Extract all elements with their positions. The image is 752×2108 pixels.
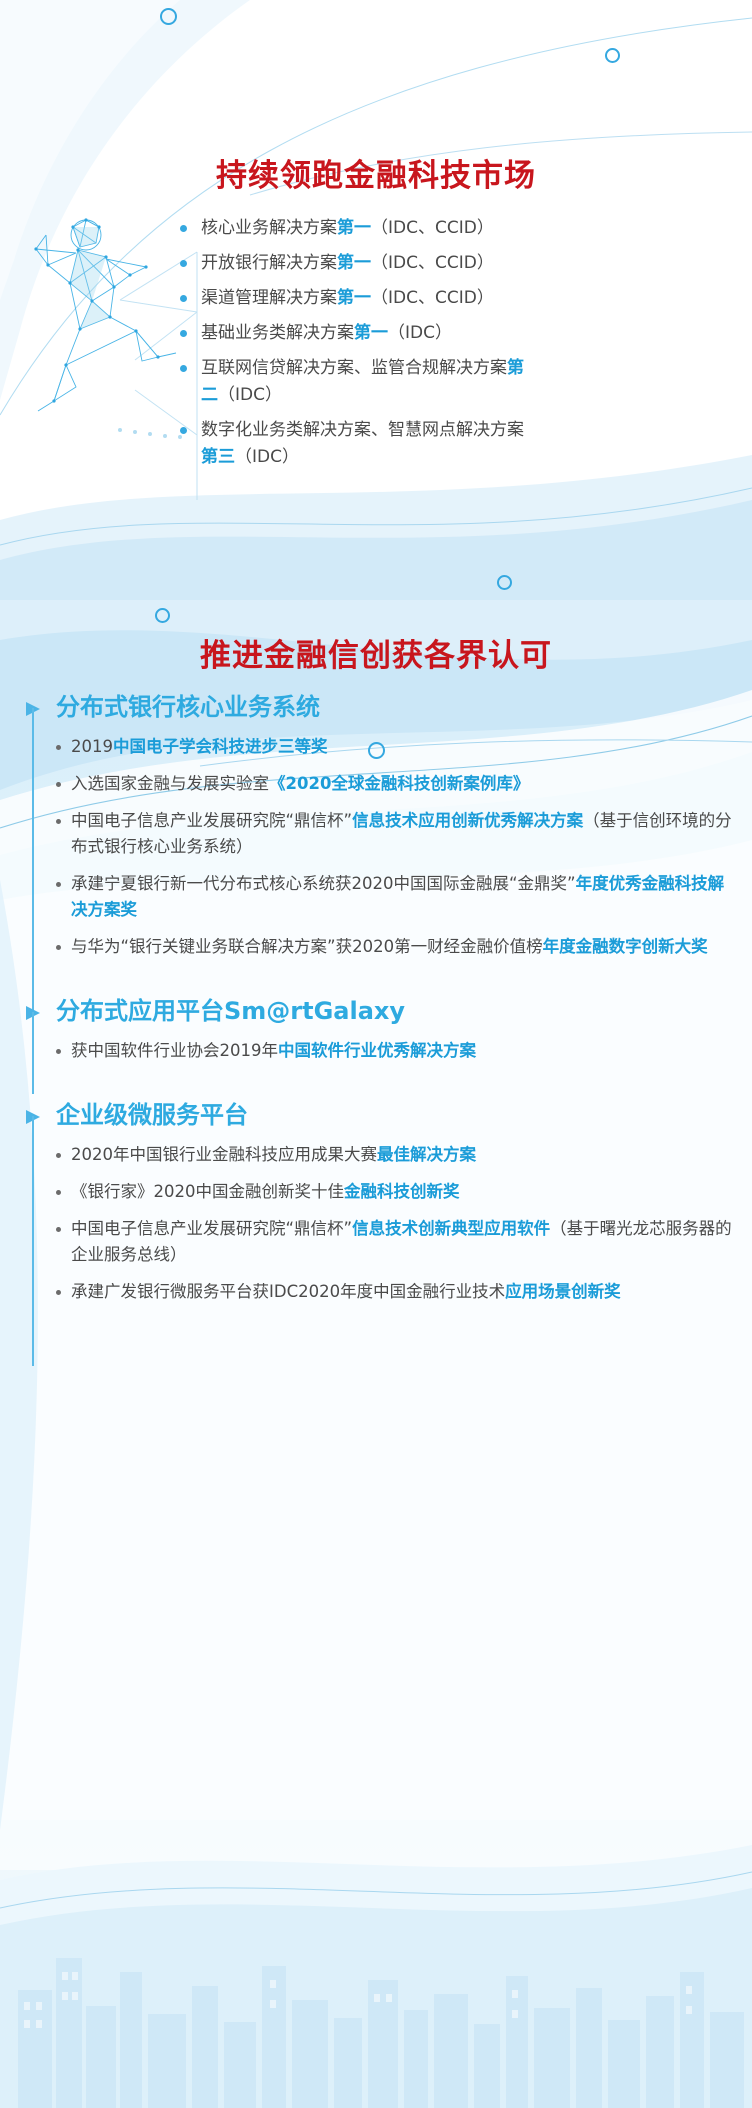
bullet-dot-icon [56,1190,61,1195]
list-item: 承建宁夏银行新一代分布式核心系统获2020中国国际金融展“金鼎奖”年度优秀金融科… [56,871,752,923]
bullet-dot-icon [180,295,187,302]
bullet-text: 数字化业务类解决方案、智慧网点解决方案第三（IDC） [201,417,535,471]
bullet-text: 承建广发银行微服务平台获IDC2020年度中国金融行业技术应用场景创新奖 [71,1279,621,1305]
bullet-text: 与华为“银行关键业务联合解决方案”获2020第一财经金融价值榜年度金融数字创新大… [71,934,708,960]
group-smartgalaxy-platform: 分布式应用平台Sm@rtGalaxy 获中国软件行业协会2019年中国软件行业优… [0,994,752,1064]
bullet-text: 核心业务解决方案第一（IDC、CCID） [201,215,494,242]
bullet-dot-icon [56,945,61,950]
list-item: 互联网信贷解决方案、监管合规解决方案第二（IDC） [180,355,725,409]
bullet-dot-icon [56,1049,61,1054]
group-connector-line [32,708,34,1028]
bullet-dot-icon [56,782,61,787]
group-enterprise-microservice-platform: 企业级微服务平台 2020年中国银行业金融科技应用成果大赛最佳解决方案 《银行家… [0,1098,752,1305]
list-item: 开放银行解决方案第一（IDC、CCID） [180,250,725,277]
group-bullets: 获中国软件行业协会2019年中国软件行业优秀解决方案 [56,1038,752,1064]
list-item: 中国电子信息产业发展研究院“鼎信杯”信息技术应用创新优秀解决方案（基于信创环境的… [56,808,752,860]
list-item: 2019中国电子学会科技进步三等奖 [56,734,752,760]
group-distributed-core-banking: 分布式银行核心业务系统 2019中国电子学会科技进步三等奖 入选国家金融与发展实… [0,690,752,960]
list-item: 渠道管理解决方案第一（IDC、CCID） [180,285,725,312]
group-heading: 分布式银行核心业务系统 [56,690,752,724]
bullet-text: 2020年中国银行业金融科技应用成果大赛最佳解决方案 [71,1142,476,1168]
bullet-dot-icon [180,365,187,372]
bullet-dot-icon [180,225,187,232]
list-item: 数字化业务类解决方案、智慧网点解决方案第三（IDC） [180,417,725,471]
bullet-text: 中国电子信息产业发展研究院“鼎信杯”信息技术应用创新优秀解决方案（基于信创环境的… [71,808,734,860]
section2-title: 推进金融信创获各界认可 [0,630,752,675]
list-item: 2020年中国银行业金融科技应用成果大赛最佳解决方案 [56,1142,752,1168]
list-item: 核心业务解决方案第一（IDC、CCID） [180,215,725,242]
section1-title: 持续领跑金融科技市场 [0,150,752,195]
section2-groups: 分布式银行核心业务系统 2019中国电子学会科技进步三等奖 入选国家金融与发展实… [0,690,752,1316]
group-connector-line [32,1116,34,1366]
list-item: 中国电子信息产业发展研究院“鼎信杯”信息技术创新典型应用软件（基于曙光龙芯服务器… [56,1216,752,1268]
section-leading-fintech-market: 持续领跑金融科技市场 [0,0,752,600]
bullet-dot-icon [56,1290,61,1295]
group-heading: 企业级微服务平台 [56,1098,752,1132]
section1-bullet-list: 核心业务解决方案第一（IDC、CCID） 开放银行解决方案第一（IDC、CCID… [180,215,725,479]
list-item: 与华为“银行关键业务联合解决方案”获2020第一财经金融价值榜年度金融数字创新大… [56,934,752,960]
bullet-dot-icon [180,260,187,267]
bullet-dot-icon [56,882,61,887]
bullet-text: 承建宁夏银行新一代分布式核心系统获2020中国国际金融展“金鼎奖”年度优秀金融科… [71,871,734,923]
infographic-page: 持续领跑金融科技市场 [0,0,752,2108]
bullet-text: 《银行家》2020中国金融创新奖十佳金融科技创新奖 [71,1179,460,1205]
bullet-text: 入选国家金融与发展实验室《2020全球金融科技创新案例库》 [71,771,529,797]
group-bullets: 2019中国电子学会科技进步三等奖 入选国家金融与发展实验室《2020全球金融科… [56,734,752,960]
bullet-text: 渠道管理解决方案第一（IDC、CCID） [201,285,494,312]
bullet-text: 互联网信贷解决方案、监管合规解决方案第二（IDC） [201,355,535,409]
group-heading: 分布式应用平台Sm@rtGalaxy [56,994,752,1028]
bullet-dot-icon [56,819,61,824]
list-item: 承建广发银行微服务平台获IDC2020年度中国金融行业技术应用场景创新奖 [56,1279,752,1305]
group-bullets: 2020年中国银行业金融科技应用成果大赛最佳解决方案 《银行家》2020中国金融… [56,1142,752,1305]
bullet-text: 2019中国电子学会科技进步三等奖 [71,734,328,760]
group-connector-line [32,1012,34,1094]
bullet-dot-icon [56,1153,61,1158]
bullet-dot-icon [56,1227,61,1232]
bullet-text: 中国电子信息产业发展研究院“鼎信杯”信息技术创新典型应用软件（基于曙光龙芯服务器… [71,1216,734,1268]
list-item: 入选国家金融与发展实验室《2020全球金融科技创新案例库》 [56,771,752,797]
running-man-wireframe-icon [18,205,193,420]
bullet-text: 获中国软件行业协会2019年中国软件行业优秀解决方案 [71,1038,476,1064]
bullet-dot-icon [180,427,187,434]
list-item: 基础业务类解决方案第一（IDC） [180,320,725,347]
bullet-dot-icon [56,745,61,750]
bullet-text: 开放银行解决方案第一（IDC、CCID） [201,250,494,277]
list-item: 获中国软件行业协会2019年中国软件行业优秀解决方案 [56,1038,752,1064]
list-item: 《银行家》2020中国金融创新奖十佳金融科技创新奖 [56,1179,752,1205]
section-fintech-innovation-recognition: 推进金融信创获各界认可 分布式银行核心业务系统 2019中国电子学会科技进步三等… [0,600,752,2108]
bullet-dot-icon [180,330,187,337]
bullet-text: 基础业务类解决方案第一（IDC） [201,320,452,347]
